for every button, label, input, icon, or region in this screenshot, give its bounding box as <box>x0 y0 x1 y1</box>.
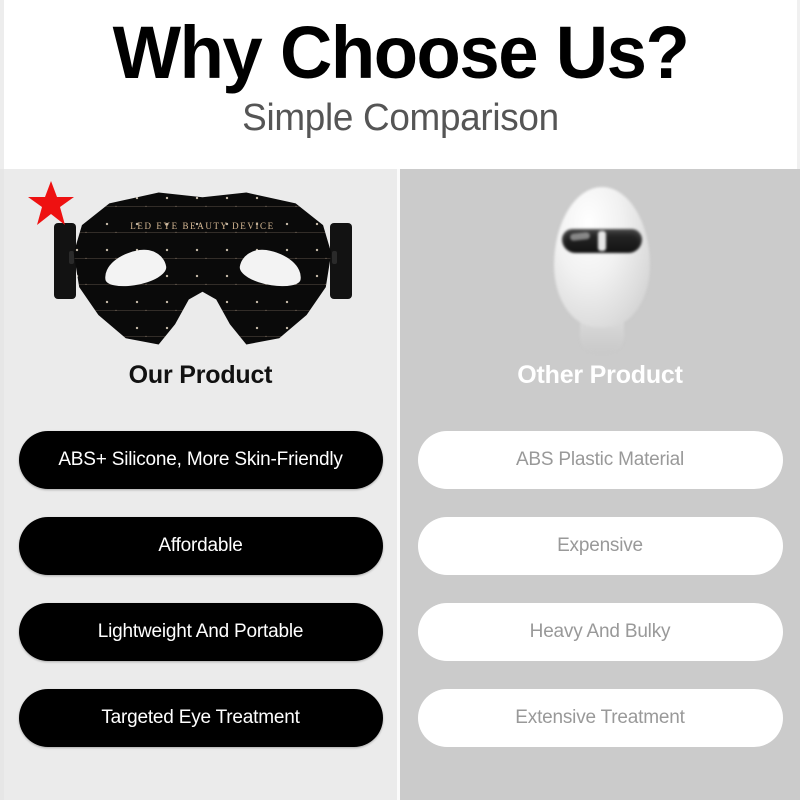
comparison-infographic: Why Choose Us? Simple Comparison <box>0 0 800 800</box>
page-title: Why Choose Us? <box>12 14 789 92</box>
feature-pill[interactable]: Expensive <box>418 517 783 575</box>
other-product-panel: Other Product ABS Plastic Material Expen… <box>400 169 800 800</box>
mask-strap-notch <box>332 251 337 264</box>
mask-brand-text: LED EYE BEAUTY DEVICE <box>66 221 340 231</box>
feature-pill[interactable]: ABS Plastic Material <box>418 431 783 489</box>
feature-pill[interactable]: Affordable <box>19 517 383 575</box>
our-product-image-stage: LED EYE BEAUTY DEVICE <box>4 169 397 361</box>
eye-shield <box>562 229 642 253</box>
header: Why Choose Us? Simple Comparison <box>0 0 800 169</box>
star-icon <box>26 179 76 229</box>
mask-strap-notch <box>69 251 74 264</box>
other-product-label: Other Product <box>400 361 800 390</box>
our-product-panel: LED EYE BEAUTY DEVICE Our Product ABS+ S… <box>0 169 397 800</box>
mask-body: LED EYE BEAUTY DEVICE <box>66 191 340 346</box>
our-product-feature-list: ABS+ Silicone, More Skin-Friendly Afford… <box>4 431 397 775</box>
mannequin-skull <box>554 187 650 327</box>
mask-strap-right <box>330 223 352 299</box>
feature-pill[interactable]: Lightweight And Portable <box>19 603 383 661</box>
other-product-feature-list: ABS Plastic Material Expensive Heavy And… <box>400 431 800 775</box>
page-subtitle: Simple Comparison <box>16 97 785 139</box>
other-product-image-stage <box>400 169 800 361</box>
feature-pill[interactable]: Targeted Eye Treatment <box>19 689 383 747</box>
eye-shield-glint <box>570 232 591 241</box>
led-eye-mask-image: LED EYE BEAUTY DEVICE <box>48 185 358 350</box>
mask-strap-left <box>54 223 76 299</box>
our-product-label: Our Product <box>4 361 397 390</box>
feature-pill[interactable]: Extensive Treatment <box>418 689 783 747</box>
mannequin-head-image <box>542 183 662 353</box>
comparison-panels: LED EYE BEAUTY DEVICE Our Product ABS+ S… <box>0 169 800 800</box>
feature-pill[interactable]: Heavy And Bulky <box>418 603 783 661</box>
feature-pill[interactable]: ABS+ Silicone, More Skin-Friendly <box>19 431 383 489</box>
